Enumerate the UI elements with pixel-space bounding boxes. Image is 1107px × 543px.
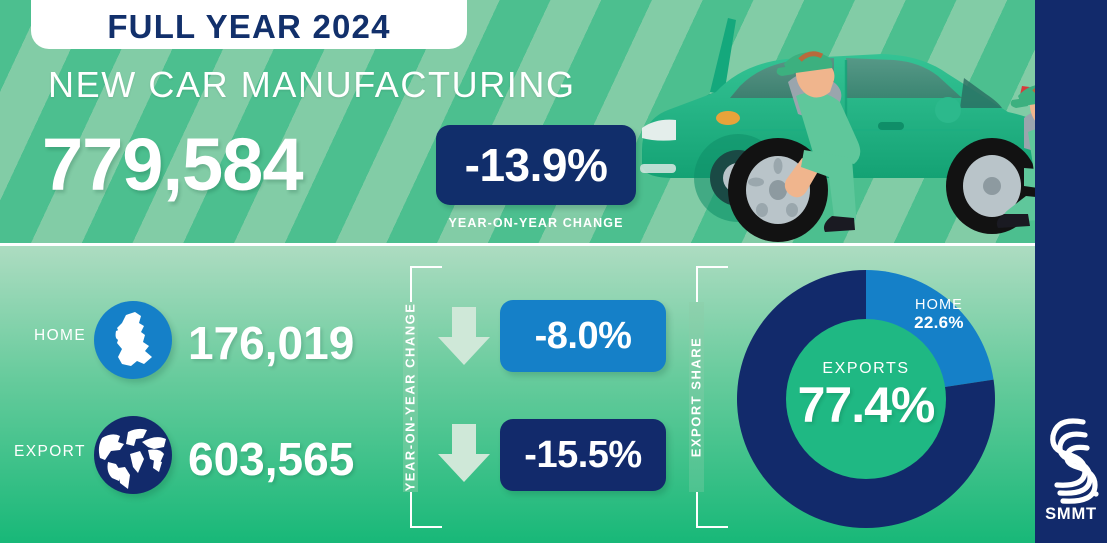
- donut-center-value: 77.4%: [741, 380, 991, 430]
- bracket-tick-bottom: [696, 526, 728, 528]
- bracket-tick-top: [696, 266, 728, 268]
- donut-slice-label-home-value: 22.6%: [914, 313, 964, 332]
- top-banner: FULL YEAR 2024 NEW CAR MANUFACTURING 779…: [0, 0, 1107, 246]
- change-value-export: -15.5%: [524, 434, 641, 477]
- down-arrow-icon-export: [436, 422, 492, 486]
- donut-center-label: EXPORTS 77.4%: [741, 360, 991, 430]
- full-year-title-pill: FULL YEAR 2024: [31, 0, 467, 49]
- car-mechanics-illustration: [620, 0, 1080, 246]
- bracket-tick-top: [410, 266, 442, 268]
- row-label-export: EXPORT: [14, 443, 86, 461]
- bracket-label-yoy: YEAR-ON-YEAR CHANGE: [403, 303, 418, 492]
- total-change-caption: YEAR-ON-YEAR CHANGE: [436, 216, 636, 230]
- page-title: FULL YEAR 2024: [107, 10, 390, 43]
- row-value-export: 603,565: [188, 436, 354, 482]
- donut-slice-label-home: HOME 22.6%: [884, 297, 994, 333]
- bracket-tick-bottom: [410, 526, 442, 528]
- total-change-badge: -13.9%: [436, 125, 636, 205]
- change-value-home: -8.0%: [535, 315, 632, 358]
- change-badge-export: -15.5%: [500, 419, 666, 491]
- brand-name: SMMT: [1036, 505, 1106, 524]
- uk-map-icon: [94, 301, 172, 379]
- change-badge-home: -8.0%: [500, 300, 666, 372]
- donut-center-name: EXPORTS: [741, 360, 991, 378]
- bracket-label-export-share: EXPORT SHARE: [689, 337, 704, 458]
- infographic-root: FULL YEAR 2024 NEW CAR MANUFACTURING 779…: [0, 0, 1107, 543]
- row-label-home: HOME: [34, 327, 86, 345]
- row-value-home: 176,019: [188, 320, 354, 366]
- donut-slice-label-home-name: HOME: [915, 297, 963, 313]
- globe-icon: [94, 416, 172, 494]
- down-arrow-icon-home: [436, 305, 492, 369]
- total-units-value: 779,584: [42, 128, 303, 202]
- total-change-value: -13.9%: [465, 138, 608, 192]
- subtitle: NEW CAR MANUFACTURING: [48, 67, 576, 103]
